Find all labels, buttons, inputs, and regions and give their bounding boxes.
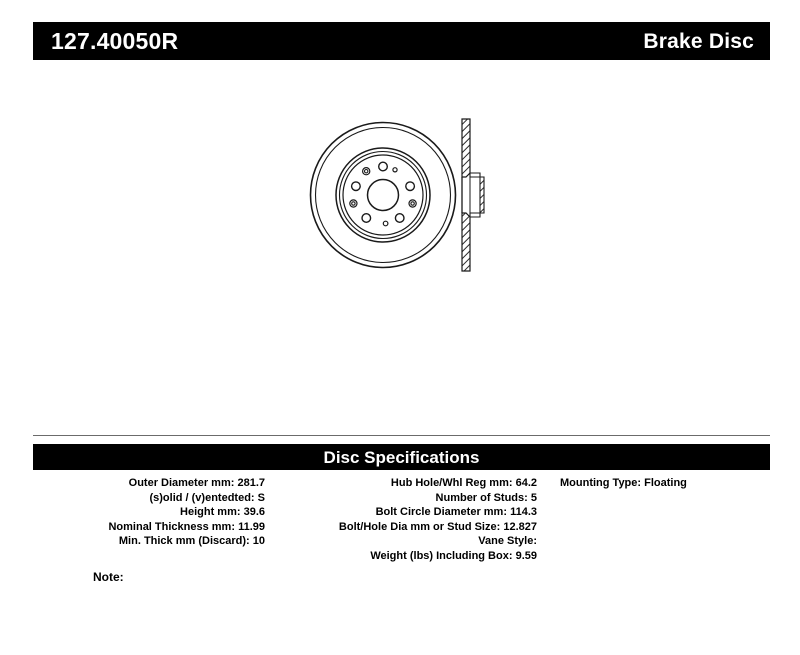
spec-row: Hub Hole/Whl Reg mm: 64.2 [265, 476, 537, 491]
note-field: Note: [33, 570, 770, 584]
spec-label: Bolt/Hole Dia mm or Stud Size: [339, 521, 500, 533]
spec-label: Nominal Thickness mm: [108, 521, 235, 533]
disc-specifications-bar: Disc Specifications [33, 444, 770, 470]
technical-drawing [33, 72, 770, 422]
spec-column-middle: Hub Hole/Whl Reg mm: 64.2 Number of Stud… [265, 476, 537, 564]
spec-value: 12.827 [503, 521, 537, 533]
spec-column-right: Mounting Type: Floating [537, 476, 770, 491]
spec-value: 5 [531, 492, 537, 504]
spec-value: 114.3 [510, 506, 537, 518]
spec-value: 9.59 [516, 550, 537, 562]
section-divider [33, 435, 770, 436]
spec-value: 10 [253, 535, 265, 547]
product-type-label: Brake Disc [643, 31, 754, 52]
brake-disc-drawing-svg [33, 72, 770, 422]
specifications-table: Outer Diameter mm: 281.7 (s)olid / (v)en… [33, 476, 770, 564]
spec-label: Vane Style: [478, 535, 537, 547]
note-label: Note: [93, 570, 124, 584]
spec-label: Weight (lbs) Including Box: [370, 550, 512, 562]
spec-row: Mounting Type: Floating [560, 476, 770, 491]
spec-value: S [258, 492, 265, 504]
spec-value: 11.99 [238, 521, 265, 533]
spec-label: Mounting Type: [560, 477, 641, 489]
spec-row: Min. Thick mm (Discard): 10 [33, 534, 265, 549]
spec-row: Weight (lbs) Including Box: 9.59 [265, 549, 537, 564]
spec-value: Floating [644, 477, 687, 489]
spec-label: Bolt Circle Diameter mm: [376, 506, 507, 518]
spec-value: 39.6 [244, 506, 265, 518]
spec-label: Height mm: [180, 506, 241, 518]
spec-row: Bolt/Hole Dia mm or Stud Size: 12.827 [265, 520, 537, 535]
product-header-bar: 127.40050R Brake Disc [33, 22, 770, 60]
brake-rotor-cross-section [462, 119, 484, 271]
spec-row: Bolt Circle Diameter mm: 114.3 [265, 505, 537, 520]
spec-row: Number of Studs: 5 [265, 491, 537, 506]
spec-label: Hub Hole/Whl Reg mm: [391, 477, 513, 489]
part-number: 127.40050R [51, 30, 178, 53]
spec-row: Nominal Thickness mm: 11.99 [33, 520, 265, 535]
note-value [124, 570, 128, 584]
spec-row: (s)olid / (v)entedted: S [33, 491, 265, 506]
spec-label: Min. Thick mm (Discard): [119, 535, 250, 547]
spec-label: Number of Studs: [436, 492, 528, 504]
spec-row: Vane Style: [265, 534, 537, 549]
spec-value: 64.2 [516, 477, 537, 489]
specifications-title: Disc Specifications [324, 449, 480, 466]
spec-label: Outer Diameter mm: [129, 477, 235, 489]
spec-row: Height mm: 39.6 [33, 505, 265, 520]
spec-row: Outer Diameter mm: 281.7 [33, 476, 265, 491]
spec-column-left: Outer Diameter mm: 281.7 (s)olid / (v)en… [33, 476, 265, 549]
spec-label: (s)olid / (v)entedted: [149, 492, 254, 504]
spec-value: 281.7 [237, 477, 265, 489]
brake-rotor-face-view [311, 123, 456, 268]
